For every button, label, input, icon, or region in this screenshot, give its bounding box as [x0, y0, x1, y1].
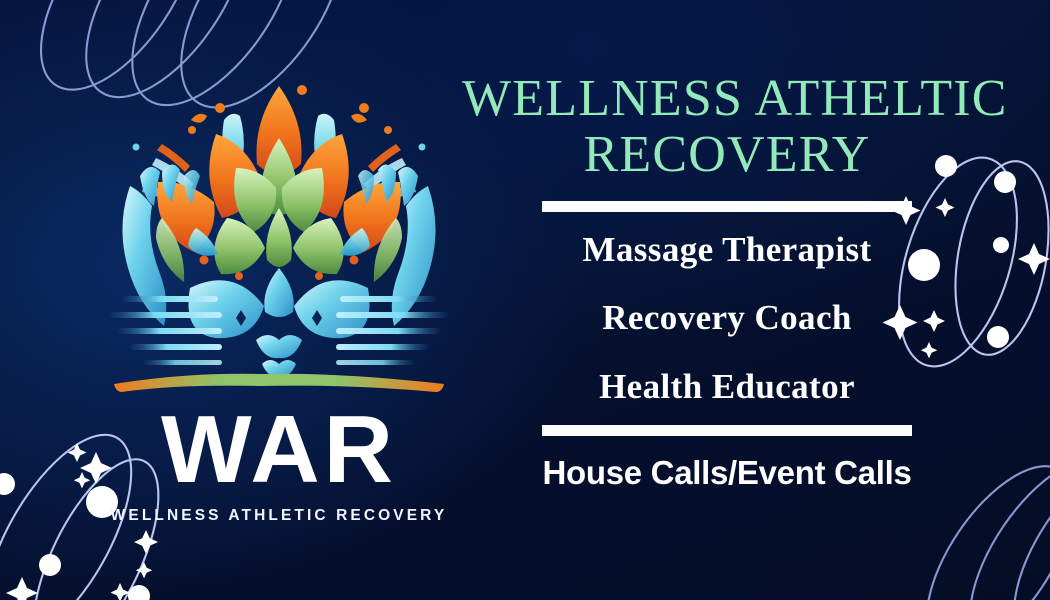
page-title-line-1: WELLNESS ATHELTIC — [462, 74, 992, 124]
service-item-recovery-coach: Recovery Coach — [462, 300, 992, 335]
logo-war-text: WAR — [96, 402, 462, 498]
tagline-text: House Calls/Event Calls — [462, 456, 992, 489]
info-panel: WELLNESS ATHELTIC RECOVERY Massage Thera… — [462, 60, 992, 530]
base-accent-line — [114, 374, 444, 392]
divider-bar-top — [542, 201, 912, 212]
page-title-line-2: RECOVERY — [462, 130, 992, 180]
brand-logo: WAR WELLNESS ATHLETIC RECOVERY — [96, 72, 462, 532]
logo-wordmark: WAR WELLNESS ATHLETIC RECOVERY — [96, 402, 462, 525]
logo-subtitle-text: WELLNESS ATHLETIC RECOVERY — [96, 507, 462, 525]
page-title: WELLNESS ATHELTIC RECOVERY — [462, 74, 992, 181]
divider-bar-bottom — [542, 425, 912, 436]
promotional-banner: WAR WELLNESS ATHLETIC RECOVERY WELLNESS … — [0, 0, 1050, 600]
service-item-health-educator: Health Educator — [462, 369, 992, 404]
service-item-massage-therapist: Massage Therapist — [462, 232, 992, 267]
lotus-hands-icon — [96, 72, 462, 402]
